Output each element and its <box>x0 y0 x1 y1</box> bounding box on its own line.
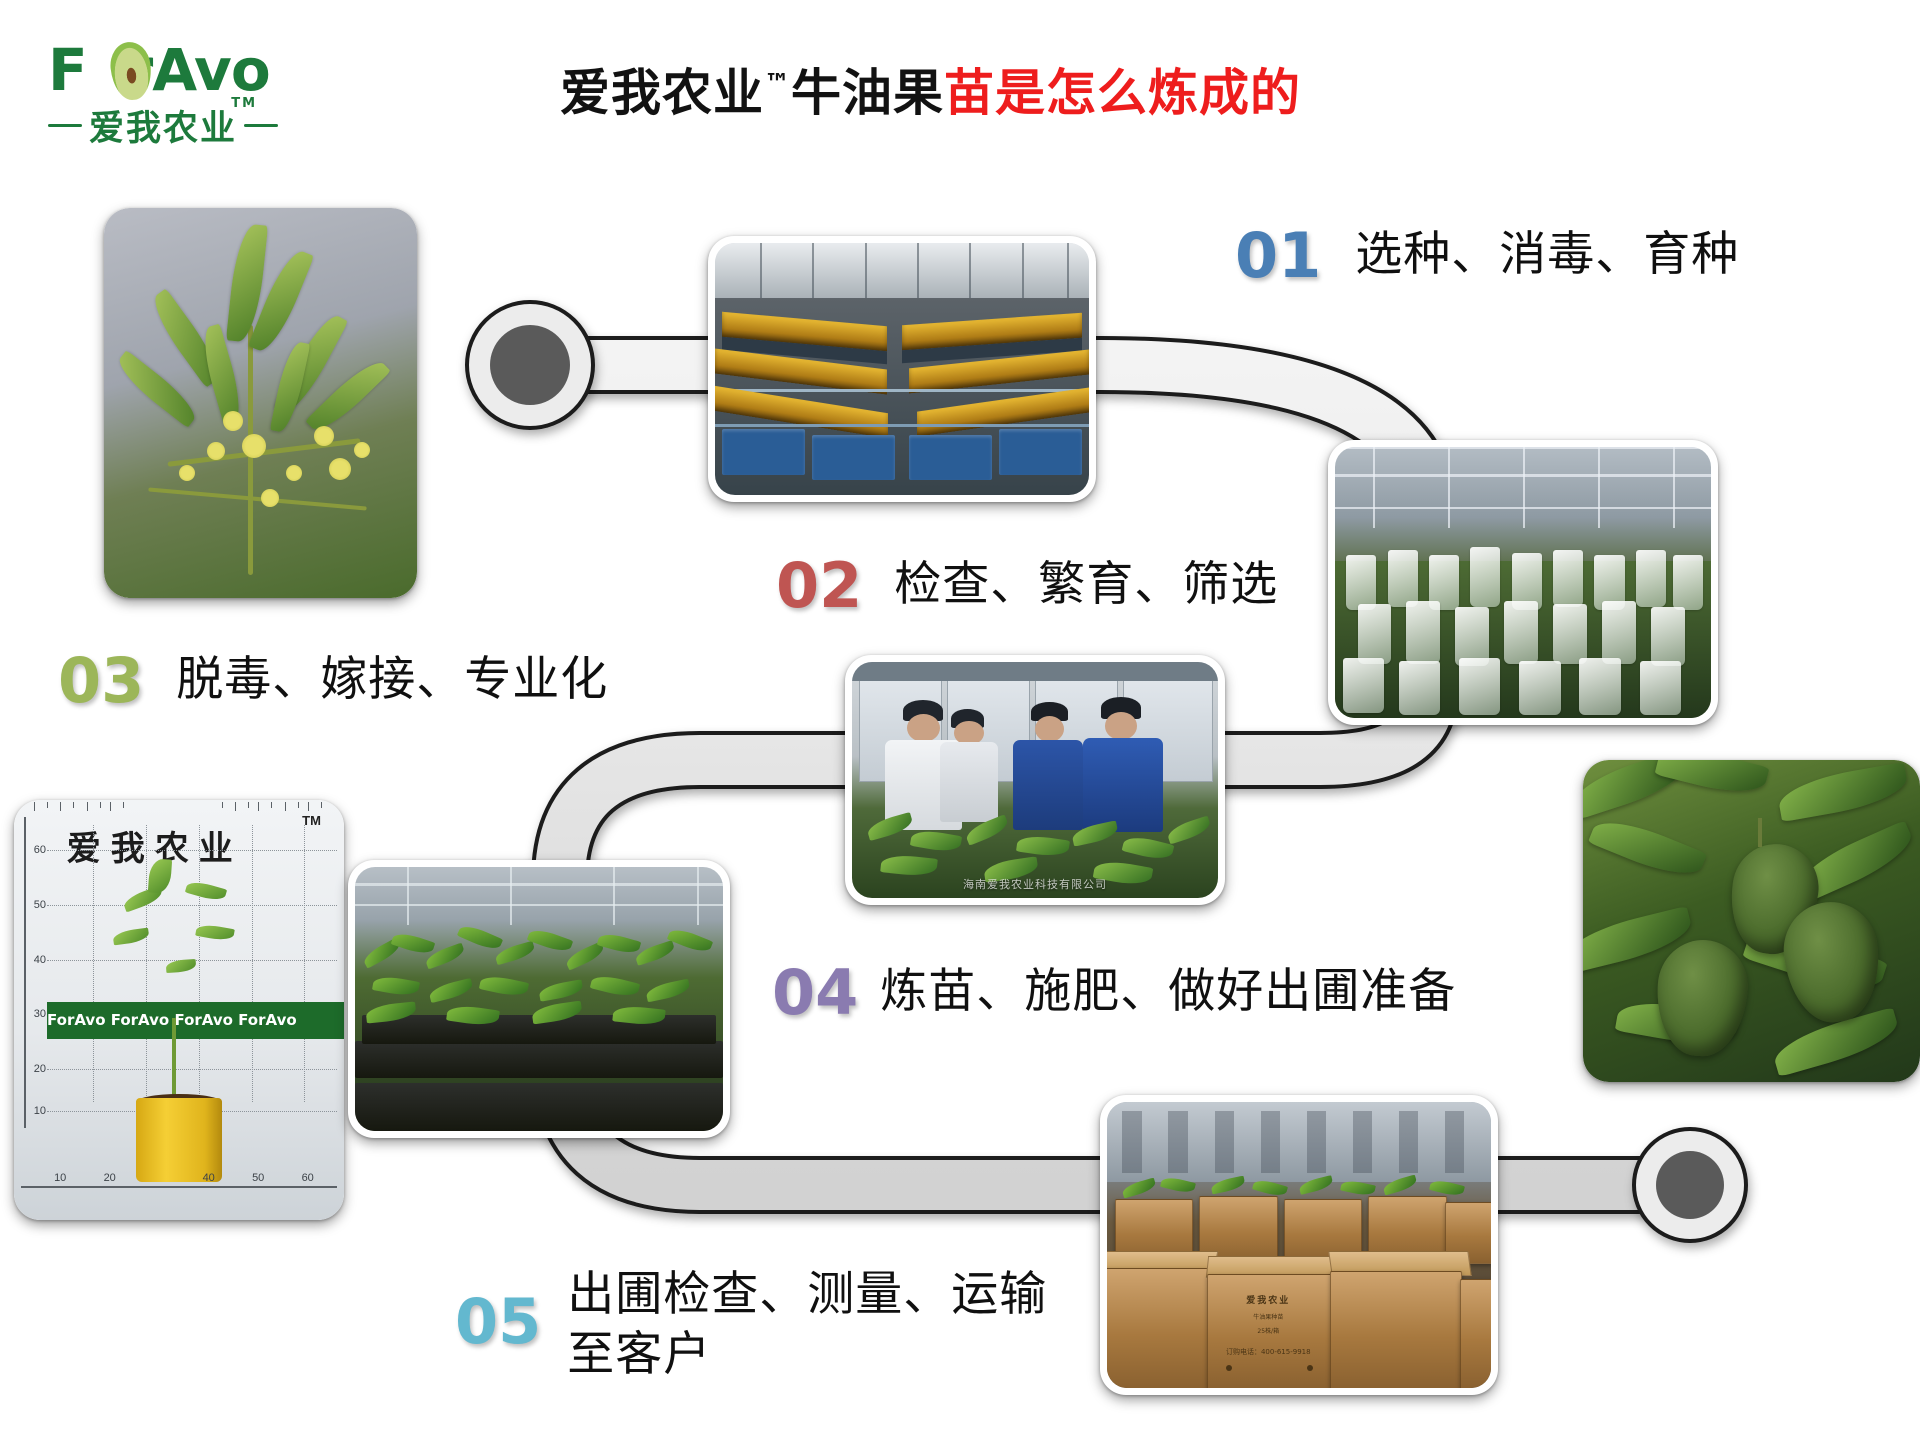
ruler-h-tick: 40 <box>203 1172 215 1184</box>
ruler-v-tick: 50 <box>34 899 46 911</box>
title-part-black: 爱我农业 <box>560 64 764 122</box>
box-line3: 25株/箱 <box>1211 1328 1326 1336</box>
logo-right-rule <box>244 124 278 127</box>
step-04-text: 炼苗、施肥、做好出圃准备 <box>880 962 1456 1022</box>
page-title: 爱我农业™牛油果苗是怎么炼成的 <box>560 48 1660 120</box>
photo-avocado-fruit <box>1583 760 1920 1082</box>
photo-shipping-boxes: 爱我农业 牛油果种苗 25株/箱 订购电话：400-615-9918 <box>1100 1095 1498 1395</box>
step-05-number: 05 <box>455 1291 541 1353</box>
infographic-canvas: FrAvo 爱我农业 TM 爱我农业™牛油果苗是怎么炼成的 <box>0 0 1920 1440</box>
connector-end-node <box>1634 1129 1746 1241</box>
step-01-number: 01 <box>1235 225 1321 287</box>
step-03-text: 脱毒、嫁接、专业化 <box>176 650 608 710</box>
photo-watermark: 海南爱我农业科技有限公司 <box>852 876 1218 892</box>
ruler-v-tick: 20 <box>34 1063 46 1075</box>
logo-left-rule <box>48 124 82 127</box>
ruler-v-tick: 10 <box>34 1105 46 1117</box>
ruler-v-tick: 40 <box>34 954 46 966</box>
board-brand-band: ForAvo ForAvo ForAvo ForAvo <box>47 1002 344 1040</box>
photo-nursery-pots <box>348 860 730 1138</box>
ruler-h-tick: 20 <box>104 1172 116 1184</box>
title-part-red: 苗是怎么炼成的 <box>944 64 1301 122</box>
step-05-label: 05 出圃检查、测量、运输 至客户 <box>455 1265 1047 1385</box>
step-01-label: 01 选种、消毒、育种 <box>1235 225 1739 287</box>
step-02-number: 02 <box>776 555 862 617</box>
photo-inspection-team: 海南爱我农业科技有限公司 <box>845 655 1225 905</box>
ruler-h-tick: 10 <box>54 1172 66 1184</box>
logo-word-pre: F <box>48 36 87 104</box>
logo-chinese-row: 爱我农业 TM <box>48 102 328 148</box>
step-02-text: 检查、繁育、筛选 <box>894 555 1278 615</box>
step-03-label: 03 脱毒、嫁接、专业化 <box>58 650 608 712</box>
ruler-v-tick: 60 <box>34 844 46 856</box>
photo-grafting-bags <box>1328 440 1718 725</box>
connector-start-node <box>467 302 593 428</box>
logo-wordmark: FrAvo <box>48 36 328 104</box>
logo-chinese-name: 爱我农业 TM <box>89 100 237 151</box>
step-05-text-line2: 至客户 <box>567 1325 1047 1385</box>
brand-logo: FrAvo 爱我农业 TM <box>48 36 328 151</box>
photo-seed-trays <box>708 236 1096 502</box>
box-phone: 订购电话：400-615-9918 <box>1199 1348 1337 1357</box>
box-line2: 牛油果种苗 <box>1211 1314 1326 1322</box>
step-02-label: 02 检查、繁育、筛选 <box>776 555 1278 617</box>
box-brand-text: 爱我农业 <box>1211 1296 1326 1307</box>
ruler-h-tick: 60 <box>302 1172 314 1184</box>
ruler-v-tick: 30 <box>34 1008 46 1020</box>
ruler-h-tick: 50 <box>252 1172 264 1184</box>
logo-tm-mark: TM <box>231 96 257 111</box>
step-03-number: 03 <box>58 650 144 712</box>
title-part-black2: 牛油果 <box>791 64 944 122</box>
step-05-text-line1: 出圃检查、测量、运输 <box>567 1265 1047 1325</box>
photo-avocado-flowers <box>104 208 417 598</box>
step-04-label: 04 炼苗、施肥、做好出圃准备 <box>772 962 1456 1024</box>
step-01-text: 选种、消毒、育种 <box>1355 225 1739 285</box>
title-tm-mark: ™ <box>764 69 791 99</box>
step-04-number: 04 <box>772 962 858 1024</box>
photo-measuring-board: 爱我农业 TM 60 50 40 30 20 10 ForAvo ForAvo … <box>14 800 344 1220</box>
